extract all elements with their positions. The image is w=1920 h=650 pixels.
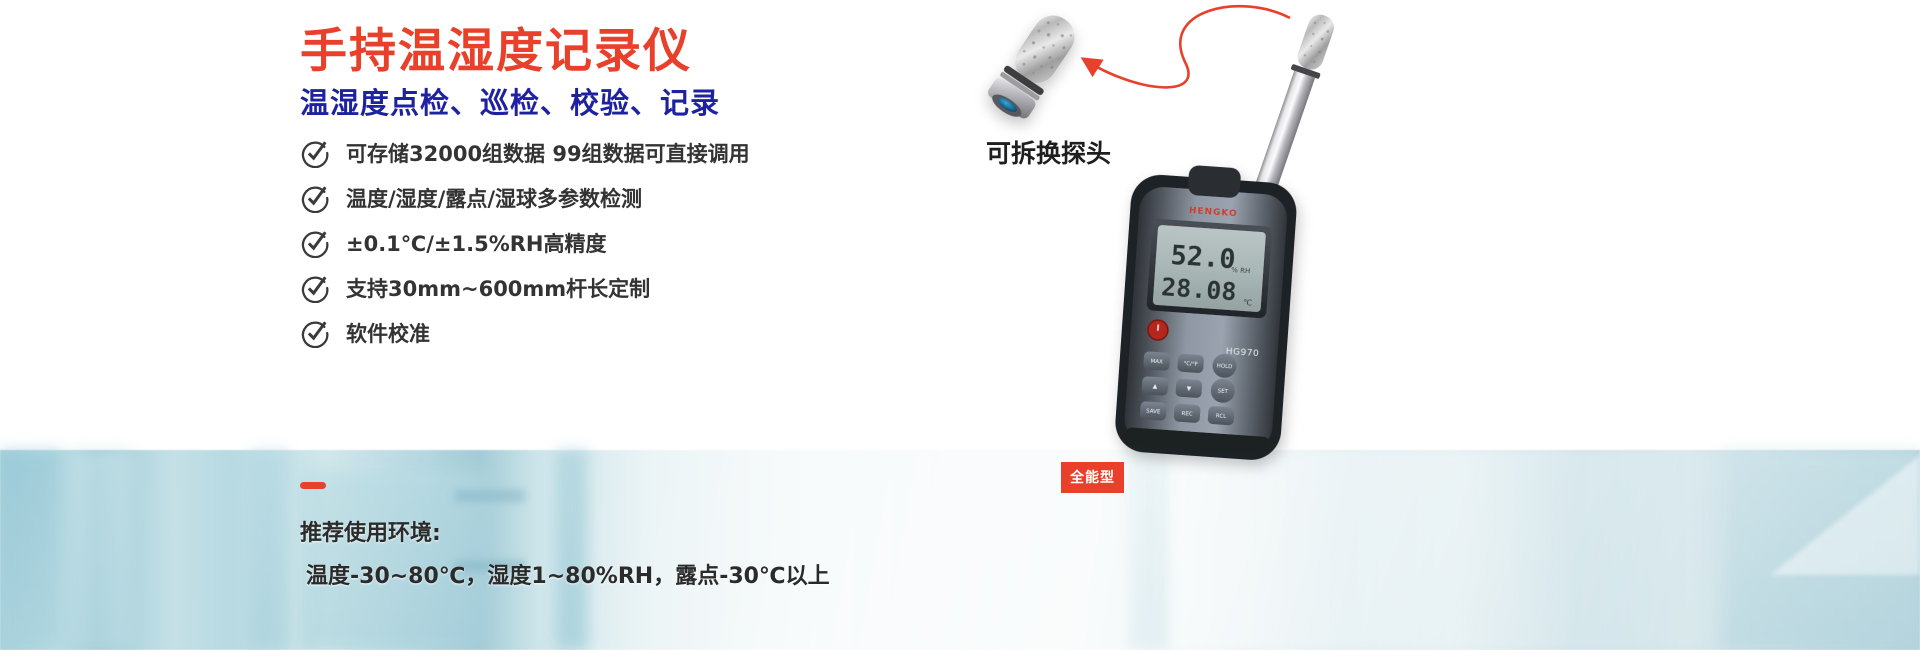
key-set: [1210, 378, 1236, 404]
page-subtitle: 温湿度点检、巡检、校验、记录: [300, 80, 720, 122]
recommended-environment-spec: 温度-30~80℃，湿度1~80%RH，露点-30℃以上: [306, 558, 830, 590]
red-dash-divider: [300, 482, 326, 489]
model-mark: HG970: [1225, 347, 1259, 359]
meter-body: HENGKO 52.0 % RH 28.08 ℃ HG970: [1113, 161, 1299, 462]
feature-text: 温度/湿度/露点/湿球多参数检测: [346, 183, 642, 213]
key-down: [1175, 378, 1202, 398]
svg-text:MAX: MAX: [1150, 359, 1163, 366]
product-banner: 手持温湿度记录仪 温湿度点检、巡检、校验、记录 可存储32000组数据 99组数…: [0, 0, 1920, 650]
lcd-humidity-value: 52.0: [1170, 240, 1237, 275]
background-glass-strip: [1170, 450, 1730, 650]
list-item: 软件校准: [300, 310, 940, 355]
circle-check-icon: [300, 183, 330, 213]
page-title: 手持温湿度记录仪: [300, 12, 692, 81]
list-item: 可存储32000组数据 99组数据可直接调用: [300, 130, 940, 175]
lcd-temperature-value: 28.08: [1160, 272, 1237, 306]
svg-text:°C/°F: °C/°F: [1183, 361, 1198, 368]
background-triangle: [1770, 455, 1920, 575]
brand-mark: HENGKO: [1189, 206, 1238, 219]
feature-list: 可存储32000组数据 99组数据可直接调用 温度/湿度/露点/湿球多参数检测: [300, 130, 940, 355]
key-rec: [1174, 403, 1201, 423]
power-button: [1147, 319, 1168, 340]
feature-text: 支持30mm~600mm杆长定制: [346, 273, 650, 303]
circle-check-icon: [300, 273, 330, 303]
key-maxmin: [1143, 351, 1170, 371]
status-badge: 全能型: [1061, 462, 1124, 493]
feature-text: 可存储32000组数据 99组数据可直接调用: [346, 138, 750, 168]
svg-text:▼: ▼: [1186, 385, 1191, 392]
svg-text:SET: SET: [1217, 388, 1228, 395]
key-hold: [1212, 353, 1238, 379]
background-blur-shape: [1130, 450, 1170, 650]
key-save: [1140, 401, 1167, 421]
lcd-humidity-unit: % RH: [1231, 266, 1251, 275]
list-item: ±0.1℃/±1.5%RH高精度: [300, 220, 940, 265]
svg-text:▲: ▲: [1152, 383, 1157, 390]
detachable-probe: [983, 6, 1085, 125]
svg-text:RCL: RCL: [1216, 413, 1228, 420]
list-item: 温度/湿度/露点/湿球多参数检测: [300, 175, 940, 220]
key-rcl: [1207, 406, 1234, 426]
circle-check-icon: [300, 228, 330, 258]
measuring-rod: [1243, 10, 1341, 212]
key-unit: [1177, 354, 1204, 374]
key-up: [1141, 376, 1168, 396]
recommended-environment-title: 推荐使用环境:: [300, 515, 441, 547]
pointer-arrow: [1085, 6, 1290, 87]
svg-text:REC: REC: [1181, 411, 1193, 418]
probe-label: 可拆换探头: [986, 134, 1111, 170]
lcd-temperature-unit: ℃: [1243, 298, 1253, 308]
circle-check-icon: [300, 318, 330, 348]
circle-check-icon: [300, 138, 330, 168]
list-item: 支持30mm~600mm杆长定制: [300, 265, 940, 310]
svg-text:HOLD: HOLD: [1216, 363, 1232, 370]
feature-text: ±0.1℃/±1.5%RH高精度: [346, 228, 606, 258]
feature-text: 软件校准: [346, 318, 430, 348]
text-column: 手持温湿度记录仪 温湿度点检、巡检、校验、记录 可存储32000组数据 99组数…: [0, 0, 960, 650]
svg-text:SAVE: SAVE: [1146, 408, 1161, 415]
